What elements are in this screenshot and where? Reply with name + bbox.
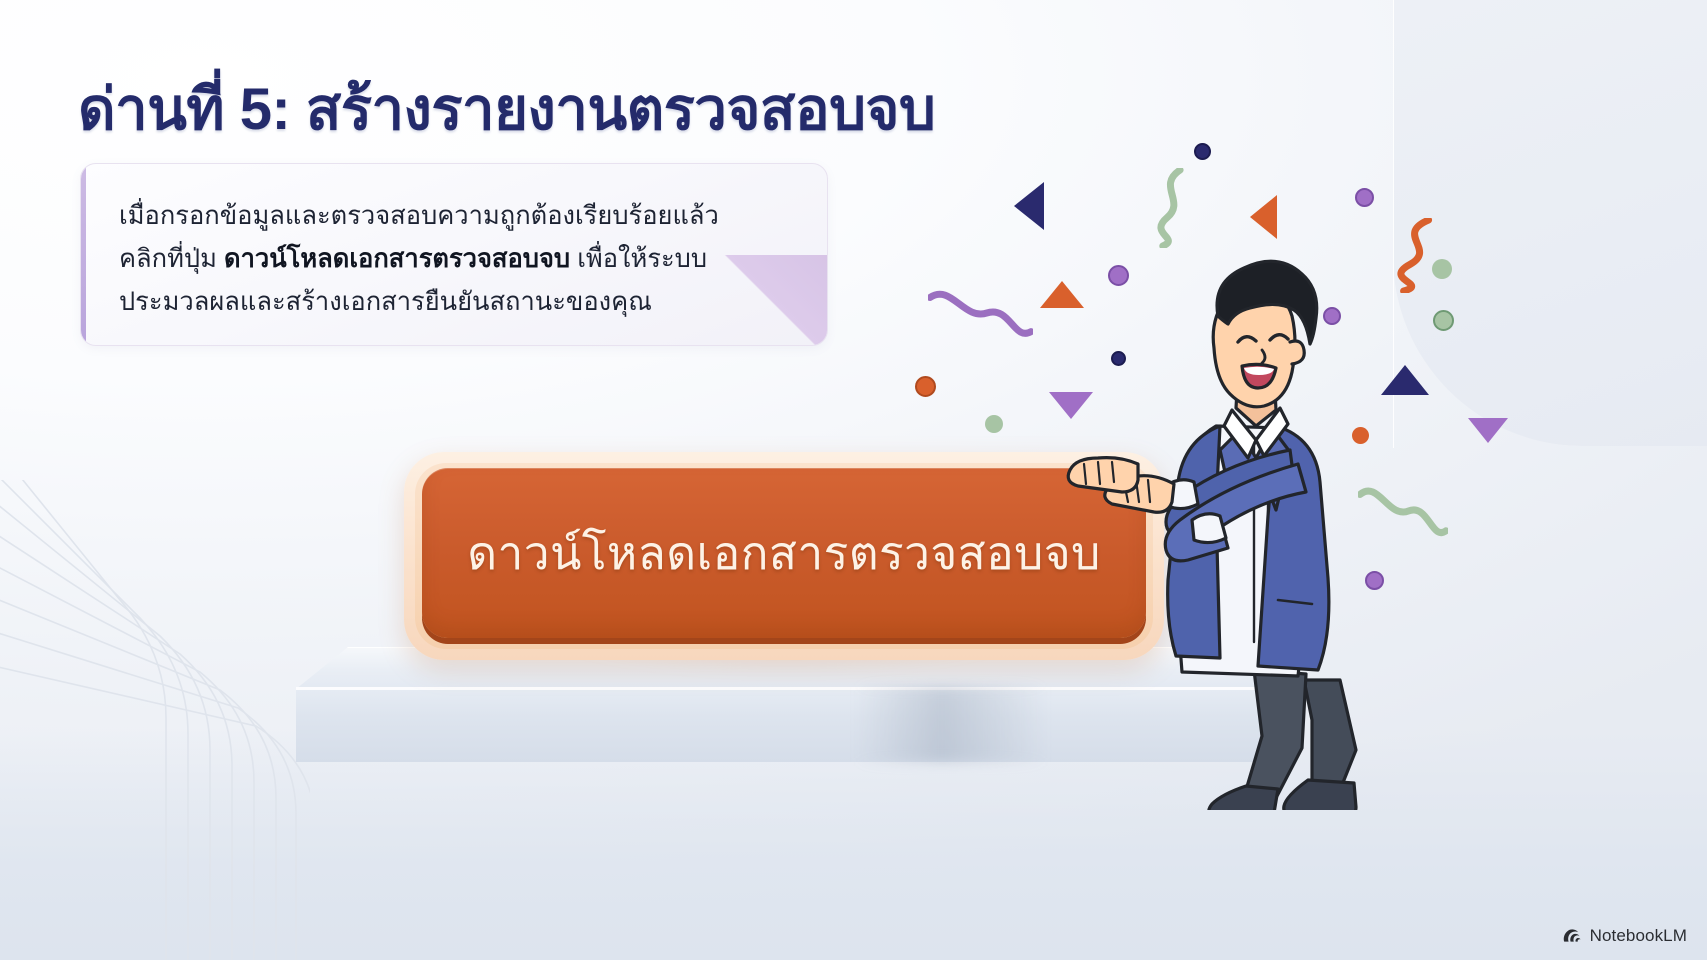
description-line-3: ประมวลผลและสร้างเอกสารยืนยันสถานะของคุณ [119, 288, 652, 316]
card-left-accent-bar [81, 164, 86, 345]
confetti-dot-green-3 [985, 415, 1003, 433]
confetti-ribbon-green-1 [1152, 168, 1188, 248]
shelf-specular-sheen [856, 687, 1046, 762]
confetti-dot-navy-1 [1194, 143, 1211, 160]
background-panel-right [1393, 0, 1707, 446]
confetti-triangle-navy-1 [1014, 182, 1044, 230]
description-line-1: เมื่อกรอกข้อมูลและตรวจสอบความถูกต้องเรีย… [119, 202, 719, 230]
description-text: เมื่อกรอกข้อมูลและตรวจสอบความถูกต้องเรีย… [119, 195, 793, 324]
notebooklm-watermark: NotebookLM [1562, 926, 1687, 946]
decorative-arc-lines [0, 480, 310, 960]
character-illustration [1040, 250, 1400, 810]
slide-canvas: ด่านที่ 5: สร้างรายงานตรวจสอบจบ เมื่อกรอ… [0, 0, 1707, 960]
watermark-label: NotebookLM [1590, 926, 1687, 946]
slide-title: ด่านที่ 5: สร้างรายงานตรวจสอบจบ [78, 62, 935, 155]
description-card: เมื่อกรอกข้อมูลและตรวจสอบความถูกต้องเรีย… [80, 163, 828, 346]
confetti-dot-orange-1 [915, 376, 936, 397]
description-line-2-prefix: คลิกที่ปุ่ม [119, 245, 224, 273]
confetti-triangle-orange-2 [1250, 195, 1277, 239]
confetti-dot-purple-1 [1355, 188, 1374, 207]
notebooklm-spiral-icon [1562, 928, 1583, 944]
confetti-ribbon-purple-1 [928, 282, 1033, 344]
description-line-2-bold: ดาวน์โหลดเอกสารตรวจสอบจบ [224, 245, 570, 273]
description-line-2-suffix: เพื่อให้ระบบ [570, 245, 707, 273]
download-completion-document-button[interactable]: ดาวน์โหลดเอกสารตรวจสอบจบ [422, 468, 1146, 638]
